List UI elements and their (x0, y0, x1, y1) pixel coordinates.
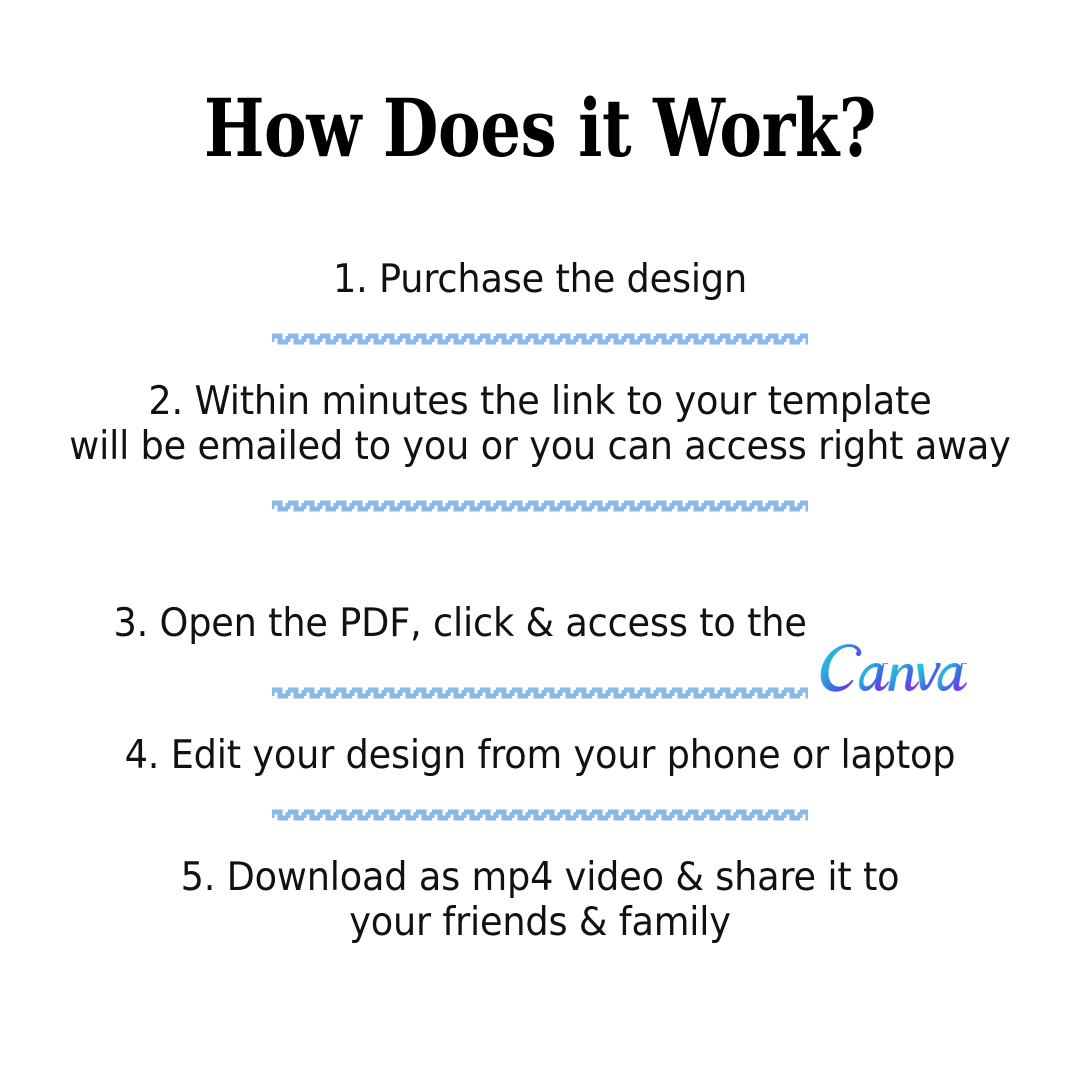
spacer (0, 346, 1080, 380)
step-item-2: 2. Within minutes the link to your templ… (32, 380, 1047, 469)
spacer (0, 513, 1080, 547)
wavy-divider-4 (272, 808, 808, 822)
step-item-5: 5. Download as mp4 video & share it to y… (32, 856, 1047, 945)
spacer (0, 302, 1080, 332)
step-item-3: 3. Open the PDF, click & access to the (32, 547, 1047, 655)
steps-list: 1. Purchase the design 2. Within minutes… (0, 258, 1080, 945)
spacer (0, 469, 1080, 499)
wavy-divider-2 (272, 499, 808, 513)
wavy-divider-1 (272, 332, 808, 346)
step-item-4: 4. Edit your design from your phone or l… (32, 734, 1047, 778)
canva-logo (818, 595, 967, 659)
page-title: How Does it Work? (108, 88, 972, 168)
step-item-1: 1. Purchase the design (32, 258, 1047, 302)
spacer (0, 778, 1080, 808)
spacer (0, 822, 1080, 856)
step-item-3-label: 3. Open the PDF, click & access to the (113, 602, 806, 646)
poster-canvas: How Does it Work? 1. Purchase the design… (0, 0, 1080, 1080)
step-3-inline: 3. Open the PDF, click & access to the (113, 592, 966, 656)
wavy-divider-3 (272, 686, 808, 700)
